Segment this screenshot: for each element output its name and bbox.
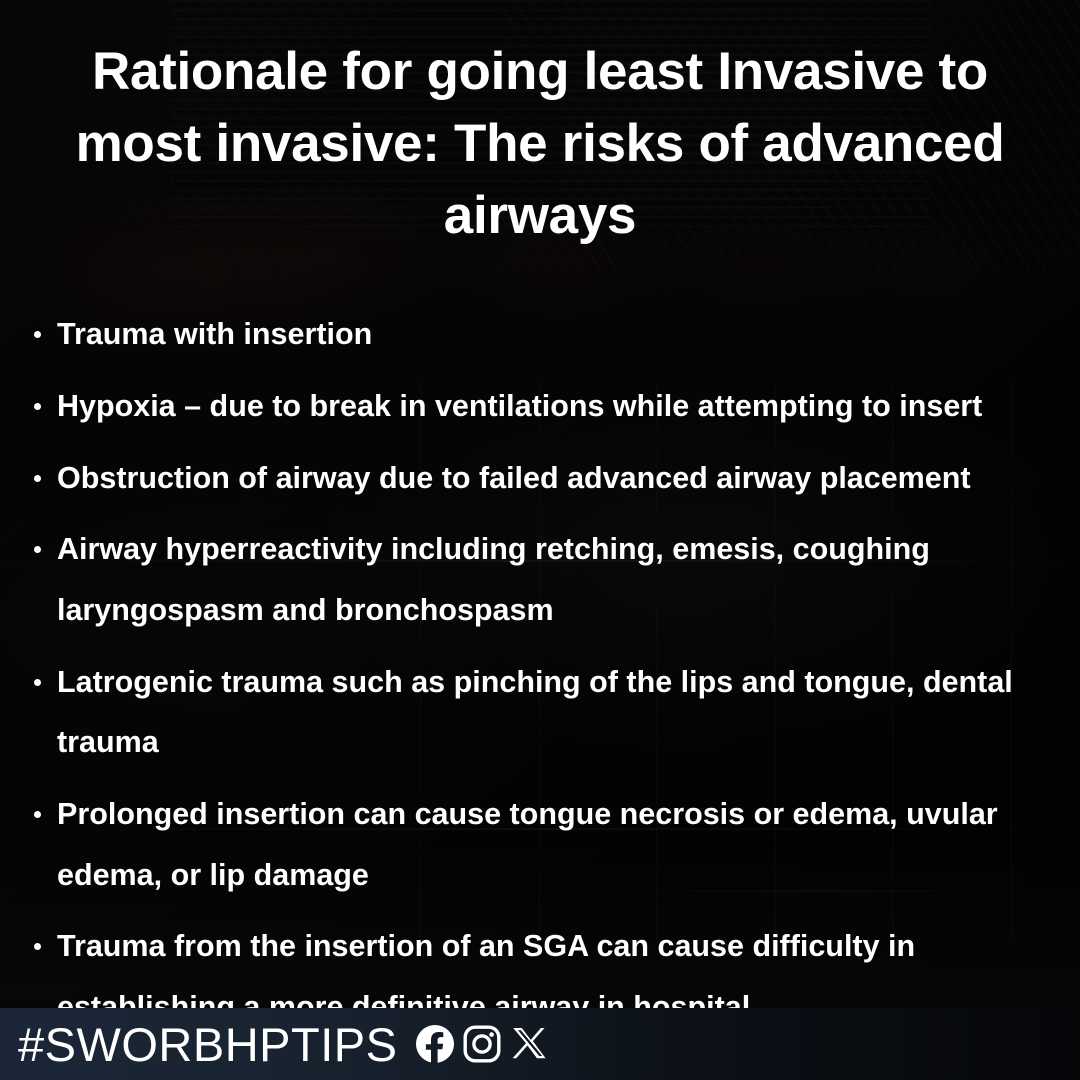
list-item-label: Obstruction of airway due to failed adva… bbox=[57, 461, 971, 495]
social-icon-group bbox=[415, 1024, 549, 1064]
risk-bullet-list: Trauma with insertion Hypoxia – due to b… bbox=[0, 252, 1080, 1049]
list-item-label: Latrogenic trauma such as pinching of th… bbox=[57, 665, 1013, 760]
bullet-dot-icon bbox=[34, 811, 41, 818]
list-item-label: Prolonged insertion can cause tongue nec… bbox=[57, 797, 998, 892]
facebook-icon[interactable] bbox=[415, 1024, 455, 1064]
bullet-dot-icon bbox=[34, 546, 41, 553]
slide-canvas: Rationale for going least Invasive to mo… bbox=[0, 0, 1080, 1080]
list-item-label: Airway hyperreactivity including retchin… bbox=[57, 532, 930, 627]
list-item-label: Hypoxia – due to break in ventilations w… bbox=[57, 389, 982, 423]
bullet-dot-icon bbox=[34, 475, 41, 482]
page-title: Rationale for going least Invasive to mo… bbox=[0, 0, 1080, 252]
bullet-dot-icon bbox=[34, 679, 41, 686]
bullet-dot-icon bbox=[34, 943, 41, 950]
slide-content: Rationale for going least Invasive to mo… bbox=[0, 0, 1080, 1080]
footer-bar: #SWORBHPTIPS bbox=[0, 1008, 1080, 1080]
list-item: Airway hyperreactivity including retchin… bbox=[33, 519, 1060, 640]
x-twitter-icon[interactable] bbox=[509, 1024, 549, 1064]
instagram-icon[interactable] bbox=[462, 1024, 502, 1064]
list-item: Obstruction of airway due to failed adva… bbox=[33, 448, 1060, 509]
list-item: Trauma with insertion bbox=[33, 304, 1060, 365]
list-item-label: Trauma with insertion bbox=[57, 317, 372, 351]
hashtag-label: #SWORBHPTIPS bbox=[18, 1021, 397, 1068]
list-item: Latrogenic trauma such as pinching of th… bbox=[33, 652, 1060, 773]
bullet-dot-icon bbox=[34, 403, 41, 410]
bullet-dot-icon bbox=[34, 331, 41, 338]
list-item: Prolonged insertion can cause tongue nec… bbox=[33, 784, 1060, 905]
list-item: Hypoxia – due to break in ventilations w… bbox=[33, 376, 1060, 437]
